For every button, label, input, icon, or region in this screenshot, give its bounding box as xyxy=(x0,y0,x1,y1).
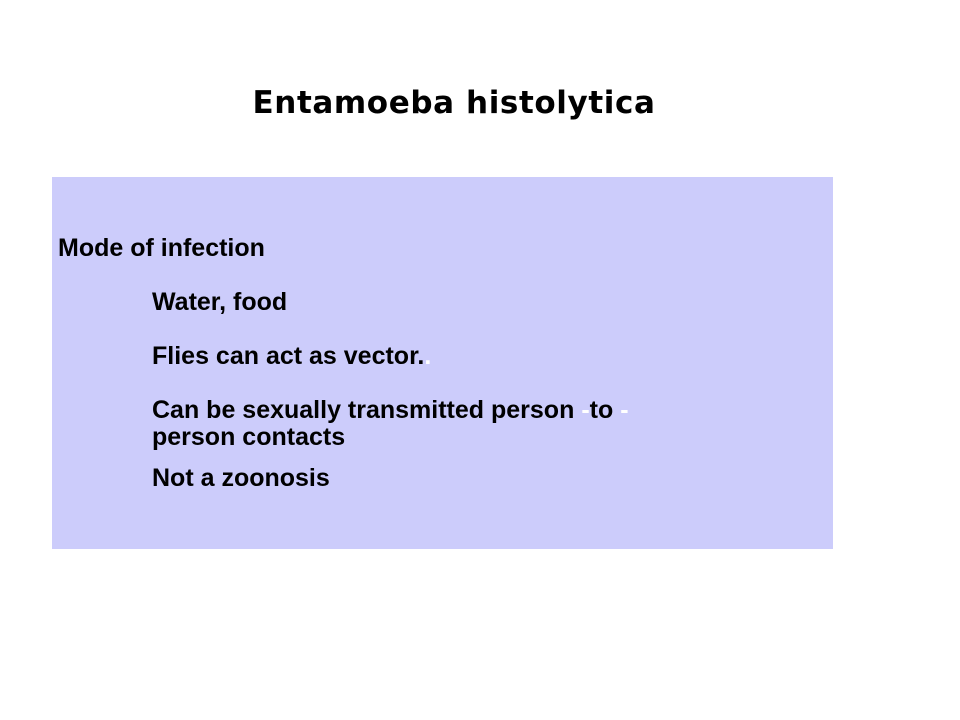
transmitted-to-word: to xyxy=(590,396,614,424)
ghost-hyphen-right: - xyxy=(620,396,628,424)
text-line-flies-vector: Flies can act as vector.. xyxy=(58,343,833,370)
text-line-person-contacts: person contacts xyxy=(58,424,833,451)
content-text-block: Mode of infection Water, food Flies can … xyxy=(58,235,833,492)
page-title: Entamoeba histolytica xyxy=(0,84,908,122)
flies-vector-text: Flies can act as vector. xyxy=(152,342,424,370)
text-line-mode-of-infection: Mode of infection xyxy=(58,235,833,262)
ghost-period: . xyxy=(424,342,431,370)
ghost-hyphen-left: - xyxy=(581,396,589,424)
sexually-transmitted-text: Can be sexually transmitted person xyxy=(152,396,574,424)
text-line-sexually-transmitted: Can be sexually transmitted person -to - xyxy=(58,397,833,424)
content-box: Mode of infection Water, food Flies can … xyxy=(52,177,833,549)
slide: Entamoeba histolytica Mode of infection … xyxy=(0,0,960,720)
text-line-water-food: Water, food xyxy=(58,289,833,316)
text-line-not-a-zoonosis: Not a zoonosis xyxy=(58,465,833,492)
